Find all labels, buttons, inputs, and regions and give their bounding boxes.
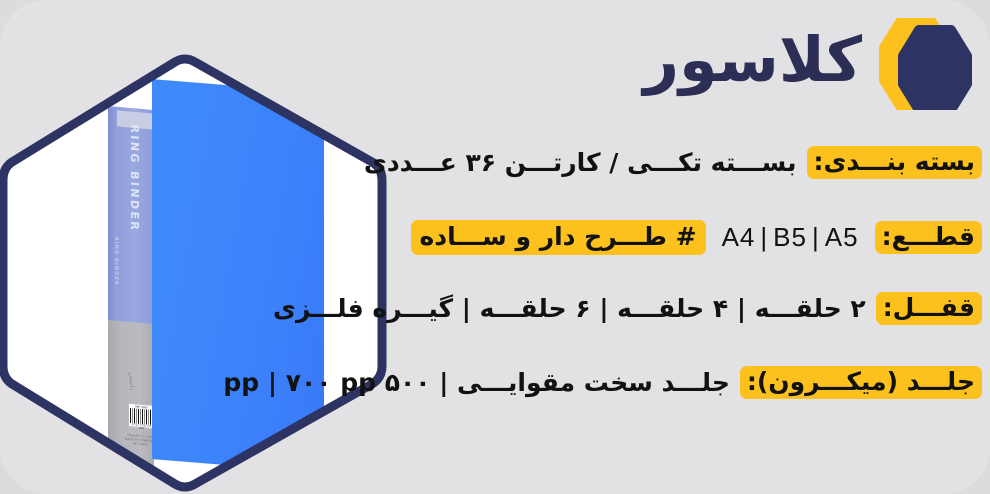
binder-spine-logo: داتیس xyxy=(112,371,136,403)
spec-row-lock: قفـــل: ۲ حلقـــه | ۴ حلقـــه | ۶ حلقـــ… xyxy=(392,292,982,325)
spec-tag-design: # طـــرح دار و ســـاده xyxy=(411,220,706,255)
spec-value-cover: جلـــد سخت مقوایـــی | ۵۰۰ pp | ۷۰۰ pp xyxy=(223,370,729,395)
page-title: کلاسور xyxy=(643,29,862,91)
logo-hexagon-front xyxy=(903,30,967,110)
spec-label-cover: جلـــد (میکـــرون): xyxy=(740,366,982,399)
size-option-a4: A4 xyxy=(722,222,756,252)
binder-spine-title: RING BINDER xyxy=(128,124,141,233)
hexagon-frame: RING BINDER RING BINDER داتیس REF. 5063 … xyxy=(0,0,392,494)
spec-label-size: قطـــع: xyxy=(875,221,982,254)
spec-row-size: قطـــع: A4|B5|A5 # طـــرح دار و ســـاده xyxy=(392,220,982,255)
spec-row-cover: جلـــد (میکـــرون): جلـــد سخت مقوایـــی… xyxy=(392,366,982,399)
binder-spine-text-group: RING BINDER RING BINDER xyxy=(110,118,150,282)
product-image-panel: RING BINDER RING BINDER داتیس REF. 5063 … xyxy=(0,0,392,494)
spec-value-lock: ۲ حلقـــه | ۴ حلقـــه | ۶ حلقـــه | گیــ… xyxy=(273,296,866,321)
spec-info-panel: کلاسور بسته بنـــدی: بســـته تکـــی / کا… xyxy=(392,0,990,494)
hexagon-brand-logo xyxy=(866,18,976,110)
binder-front-cover xyxy=(152,79,324,473)
size-option-a5: A5 xyxy=(825,222,859,252)
spec-row-packaging: بسته بنـــدی: بســـته تکـــی / کارتـــن … xyxy=(392,146,982,179)
binder-spine-title-small: RING BINDER xyxy=(113,236,119,286)
spec-label-packaging: بسته بنـــدی: xyxy=(807,146,982,179)
size-separator-2: | xyxy=(807,222,825,252)
spec-value-packaging: بســـته تکـــی / کارتـــن ۳۶ عـــددی xyxy=(364,150,797,175)
spec-label-lock: قفـــل: xyxy=(876,292,982,325)
barcode-label: REF. 5063 8 712 1726 741 2537 xyxy=(128,403,155,429)
binder-artwork-group: RING BINDER RING BINDER داتیس REF. 5063 … xyxy=(0,0,392,494)
spec-size-options: A4|B5|A5 xyxy=(722,222,859,253)
product-spec-card: RING BINDER RING BINDER داتیس REF. 5063 … xyxy=(0,0,990,494)
size-option-b5: B5 xyxy=(773,222,807,252)
title-row: کلاسور xyxy=(392,12,862,108)
size-separator-1: | xyxy=(755,222,773,252)
